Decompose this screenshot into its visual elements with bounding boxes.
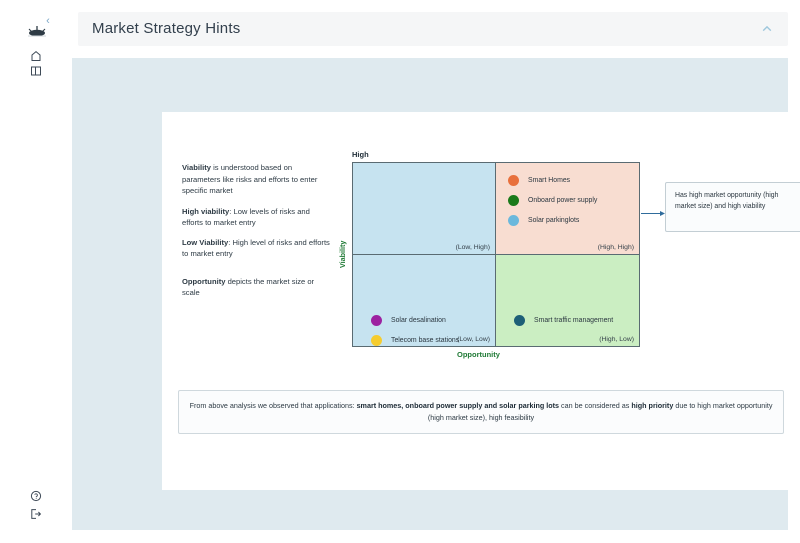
- list-item[interactable]: Telecom base stations: [371, 335, 459, 346]
- quadrant-tag: (Low, High): [456, 244, 490, 251]
- list-item[interactable]: Solar desalination: [371, 315, 459, 326]
- explainer-term-viability: Viability: [182, 163, 211, 172]
- marker-dot: [514, 315, 525, 326]
- quadrant-tag: (High, Low): [599, 336, 634, 343]
- matrix-grid: (Low, High) Smart Homes Onboard power su…: [352, 162, 640, 347]
- list-item-label: Telecom base stations: [391, 337, 459, 344]
- marker-dot: [371, 315, 382, 326]
- summary-text: From above analysis we observed that app…: [179, 400, 783, 424]
- list-item-label: Solar parkinglots: [528, 217, 579, 224]
- page-header: Market Strategy Hints: [78, 12, 788, 46]
- quadrant-high-low[interactable]: Smart traffic management (High, Low): [496, 255, 639, 347]
- sidebar-item-panel[interactable]: [30, 65, 44, 79]
- quadrant-low-low[interactable]: Solar desalination Telecom base stations…: [353, 255, 496, 347]
- axis-label-high: High: [352, 150, 369, 159]
- list-item[interactable]: Solar parkinglots: [508, 215, 597, 226]
- axis-label-viability: Viability: [338, 241, 347, 268]
- quadrant-item-list: Solar desalination Telecom base stations: [371, 315, 459, 347]
- strategy-matrix: High Viability Opportunity (Low, High) S…: [352, 150, 642, 370]
- quadrant-high-high[interactable]: Smart Homes Onboard power supply Solar p…: [496, 163, 639, 255]
- page-title: Market Strategy Hints: [92, 20, 240, 37]
- help-icon[interactable]: [30, 490, 44, 504]
- summary-box: From above analysis we observed that app…: [178, 390, 784, 434]
- list-item-label: Onboard power supply: [528, 197, 597, 204]
- list-item[interactable]: Onboard power supply: [508, 195, 597, 206]
- marker-dot: [508, 175, 519, 186]
- quadrant-tag: (High, High): [598, 244, 634, 251]
- quadrant-tag: (Low, Low): [457, 336, 490, 343]
- callout-box: Has high market opportunity (high market…: [665, 182, 800, 232]
- slide-card: Viability is understood based on paramet…: [162, 112, 800, 490]
- explainer-text-block: Viability is understood based on paramet…: [182, 162, 332, 307]
- explainer-term-opportunity: Opportunity: [182, 277, 225, 286]
- list-item[interactable]: Smart Homes: [508, 175, 597, 186]
- app-logo-icon[interactable]: [26, 24, 48, 42]
- explainer-term-high-viability: High viability: [182, 207, 229, 216]
- logout-icon[interactable]: [30, 508, 44, 522]
- chevron-up-icon[interactable]: [760, 22, 774, 36]
- marker-dot: [508, 195, 519, 206]
- explainer-paragraph-opportunity: Opportunity depicts the market size or s…: [182, 276, 332, 299]
- sidebar: ‹: [0, 0, 72, 543]
- quadrant-low-high[interactable]: (Low, High): [353, 163, 496, 255]
- summary-priority: high priority: [631, 401, 673, 410]
- summary-apps: smart homes, onboard power supply and so…: [357, 401, 560, 410]
- quadrant-item-list: Smart Homes Onboard power supply Solar p…: [508, 175, 597, 235]
- sidebar-item-home[interactable]: [30, 50, 44, 64]
- list-item-label: Smart Homes: [528, 177, 570, 184]
- marker-dot: [508, 215, 519, 226]
- explainer-term-low-viability: Low Viability: [182, 238, 228, 247]
- marker-dot: [371, 335, 382, 346]
- callout-text: Has high market opportunity (high market…: [666, 183, 800, 220]
- explainer-paragraph-viability: Viability is understood based on paramet…: [182, 162, 332, 197]
- list-item-label: Solar desalination: [391, 317, 446, 324]
- quadrant-item-list: Smart traffic management: [514, 315, 613, 335]
- summary-lead: From above analysis we observed that app…: [190, 401, 357, 410]
- explainer-paragraph-high-viability: High viability: Low levels of risks and …: [182, 206, 332, 229]
- list-item-label: Smart traffic management: [534, 317, 613, 324]
- explainer-paragraph-low-viability: Low Viability: High level of risks and e…: [182, 237, 332, 260]
- summary-mid: can be considered as: [559, 401, 631, 410]
- callout-arrow-icon: [641, 204, 667, 211]
- axis-label-opportunity: Opportunity: [457, 350, 500, 359]
- list-item[interactable]: Smart traffic management: [514, 315, 613, 326]
